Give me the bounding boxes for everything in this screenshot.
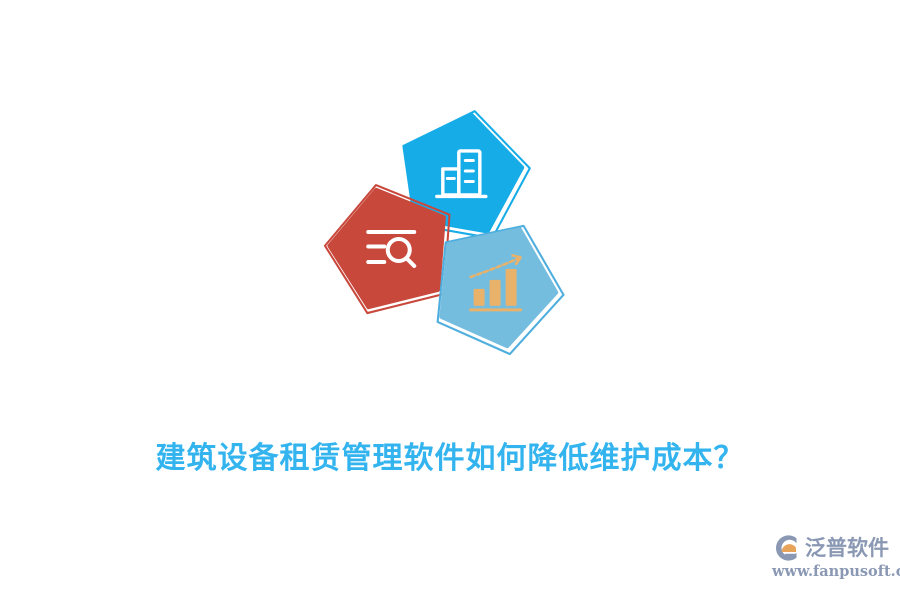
page-root: 建筑设备租赁管理软件如何降低维护成本？ 泛普软件 www.fanpusoft.c… bbox=[0, 0, 900, 600]
page-title: 建筑设备租赁管理软件如何降低维护成本？ bbox=[0, 438, 900, 480]
brand-watermark: 泛普软件 www.fanpusoft.com bbox=[772, 532, 894, 590]
chart-bar-2 bbox=[490, 280, 501, 306]
brand-url: www.fanpusoft.com bbox=[772, 563, 894, 580]
chart-bar-1 bbox=[474, 289, 485, 306]
hero-graphic bbox=[320, 110, 580, 370]
brand-name: 泛普软件 bbox=[805, 533, 889, 563]
fanpu-logo-icon bbox=[772, 533, 802, 563]
chart-bar-3 bbox=[506, 269, 517, 306]
brand-row: 泛普软件 bbox=[772, 532, 894, 564]
